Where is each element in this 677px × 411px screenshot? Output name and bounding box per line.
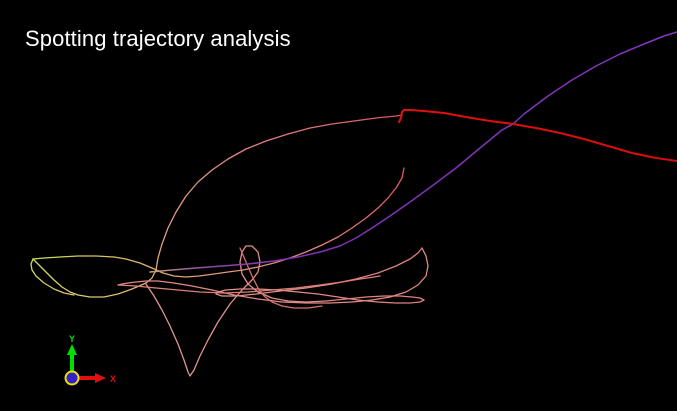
trajectory-segment-left-hook	[31, 259, 74, 295]
trajectory-path-group	[31, 32, 677, 376]
trajectory-segment-lower-loop	[146, 246, 424, 376]
page-title: Spotting trajectory analysis	[25, 28, 291, 50]
trajectory-segment-lower-return	[118, 248, 428, 303]
trajectory-segment-red-step	[399, 110, 677, 161]
orientation-axes-gizmo[interactable]: Y X	[46, 330, 132, 392]
trajectory-segment-main-rise	[33, 115, 402, 297]
trajectory-segment-outbound-upper	[33, 168, 404, 277]
trajectory-segment-spike-connector	[240, 248, 322, 308]
origin-marker	[66, 372, 79, 385]
trajectory-segment-purple-ascent	[150, 32, 677, 272]
x-axis-label: X	[110, 374, 116, 384]
trajectory-viewport[interactable]: Spotting trajectory analysis Y X	[0, 0, 677, 411]
y-axis-label: Y	[69, 334, 75, 344]
